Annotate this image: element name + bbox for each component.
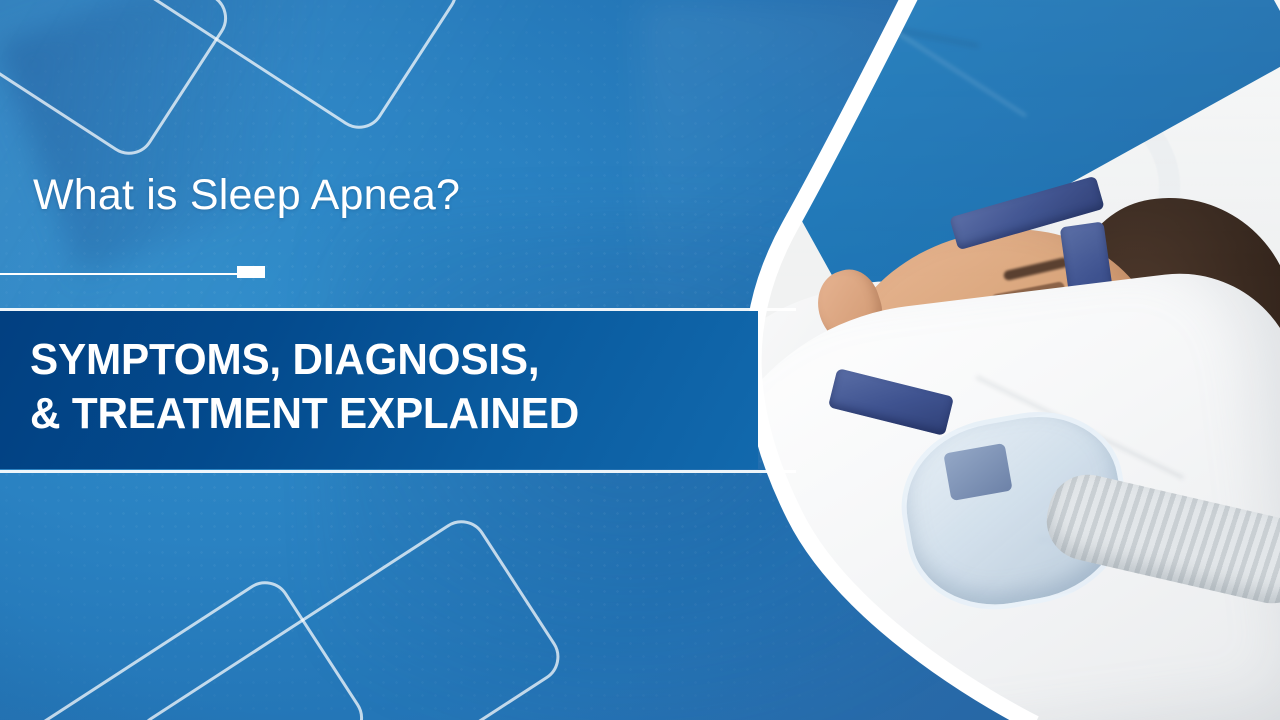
accent-rule bbox=[0, 262, 300, 286]
page-title: SYMPTOMS, DIAGNOSIS, & TREATMENT EXPLAIN… bbox=[30, 333, 712, 441]
page-title-line-1: SYMPTOMS, DIAGNOSIS, bbox=[30, 333, 712, 387]
accent-rule-block bbox=[237, 266, 265, 278]
accent-rule-line bbox=[0, 273, 238, 275]
page-title-line-2: & TREATMENT EXPLAINED bbox=[30, 387, 712, 441]
page-subtitle: What is Sleep Apnea? bbox=[33, 172, 460, 219]
headline-band-bottom-rule bbox=[0, 470, 796, 473]
sleep-apnea-banner: What is Sleep Apnea? SYMPTOMS, DIAGNOSIS… bbox=[0, 0, 1280, 720]
